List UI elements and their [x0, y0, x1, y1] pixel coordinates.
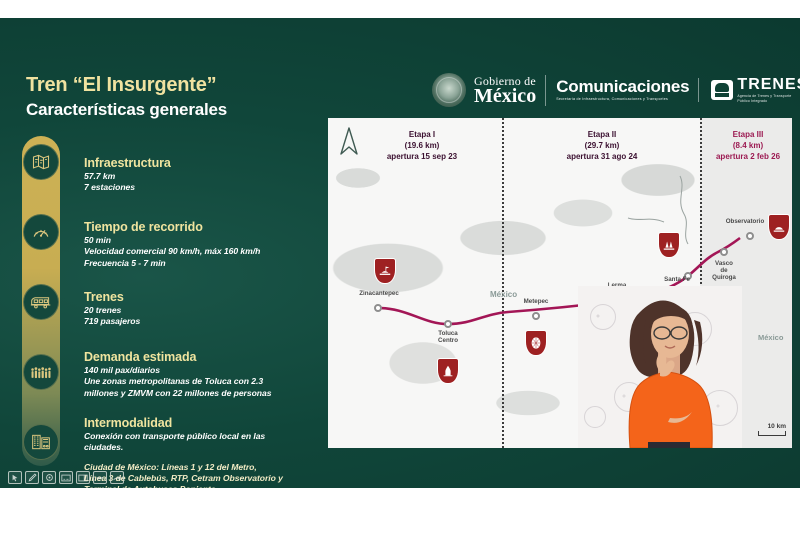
station-label-santa-fe: Santa Fe — [654, 276, 700, 283]
cursor-tool-icon[interactable] — [8, 471, 22, 484]
annotation-toolbar[interactable] — [8, 471, 124, 484]
feature-line: 140 mil pax/diarios — [84, 365, 271, 376]
feature-line: ciudades. — [84, 442, 283, 453]
route-map-icon — [23, 144, 59, 180]
trenes-sub-line-2: Público Integrado — [737, 100, 800, 103]
pen-tool-icon[interactable] — [25, 471, 39, 484]
train-icon — [23, 284, 59, 320]
feature-line: 20 trenes — [84, 305, 140, 316]
gobierno-de-mexico-logo: Gobierno de México — [474, 75, 546, 106]
sign-language-interpreter-video — [578, 286, 742, 448]
station-label-zinacantepec: Zinacantepec — [336, 290, 422, 297]
government-logo-bar: Gobierno de México Comunicaciones Secret… — [432, 68, 800, 112]
feature-line: 57.7 km — [84, 171, 171, 182]
station-dot-observatorio[interactable] — [746, 232, 754, 240]
feature-heading: Trenes — [84, 290, 140, 304]
trenes-sub-line-1: Agencia de Trenes y Transporte — [737, 95, 800, 98]
more-tool-icon[interactable] — [93, 471, 107, 484]
interpreter-figure — [578, 286, 742, 448]
presentation-video-frame: Gobierno de México Comunicaciones Secret… — [0, 18, 800, 488]
station-shield-zinacantepec — [374, 258, 396, 284]
comunicaciones-logo: Comunicaciones Secretaría de Infraestruc… — [554, 78, 699, 102]
feature-heading: Intermodalidad — [84, 416, 283, 430]
trenes-train-icon — [711, 80, 733, 100]
comunicaciones-subtitle: Secretaría de Infraestructura, Comunicac… — [556, 98, 689, 102]
station-dot-vasco-de-quiroga[interactable] — [720, 248, 728, 256]
station-shield-toluca-centro — [437, 358, 459, 384]
layout-tool-icon[interactable] — [76, 471, 90, 484]
feature-heading: Demanda estimada — [84, 350, 271, 364]
station-dot-toluca-centro[interactable] — [444, 320, 452, 328]
intermodal-station-icon — [23, 424, 59, 460]
spotlight-tool-icon[interactable] — [42, 471, 56, 484]
feature-line: 50 min — [84, 235, 260, 246]
feature-extra-line: Terminal de Autobuses Poniente — [84, 484, 283, 488]
scale-bar-label: 10 km — [758, 423, 786, 430]
map-scale-bar: 10 km — [758, 423, 786, 436]
feature-block-demanda-estimada: Demanda estimada 140 mil pax/diarios Une… — [84, 350, 271, 399]
station-shield-santa-fe — [658, 232, 680, 258]
scale-bar-rule — [758, 431, 786, 436]
trenes-wordmark: TRENES Agencia de Trenes y Transporte Pú… — [737, 77, 800, 104]
station-label-toluca-centro: TolucaCentro — [416, 330, 480, 344]
speedometer-icon — [23, 214, 59, 250]
comunicaciones-title: Comunicaciones — [556, 78, 689, 95]
feature-line: Frecuencia 5 - 7 min — [84, 258, 260, 269]
feature-line: Velocidad comercial 90 km/h, máx 160 km/… — [84, 246, 260, 257]
station-shield-metepec — [525, 330, 547, 356]
station-shield-observatorio — [768, 214, 790, 240]
trenes-name-text: TRENES — [737, 77, 800, 93]
exit-tool-icon[interactable] — [110, 471, 124, 484]
feature-heading: Infraestructura — [84, 156, 171, 170]
subtitles-tool-icon[interactable] — [59, 471, 73, 484]
station-dot-metepec[interactable] — [532, 312, 540, 320]
feature-block-tiempo-de-recorrido: Tiempo de recorrido 50 min Velocidad com… — [84, 220, 260, 269]
slide-title-primary: Tren “El Insurgente” — [26, 74, 216, 97]
feature-block-infraestructura: Infraestructura 57.7 km 7 estaciones — [84, 156, 171, 194]
state-label-mexico-1: México — [490, 290, 517, 299]
station-dot-zinacantepec[interactable] — [374, 304, 382, 312]
station-label-metepec: Metepec — [506, 298, 566, 305]
state-label-mexico-2: México — [758, 333, 783, 342]
gob-bottom-text: México — [474, 86, 536, 106]
feature-line: 7 estaciones — [84, 182, 171, 193]
feature-line: millones y ZMVM con 22 millones de perso… — [84, 388, 271, 399]
feature-line: 719 pasajeros — [84, 316, 140, 327]
feature-heading: Tiempo de recorrido — [84, 220, 260, 234]
slide-title-secondary: Características generales — [26, 100, 227, 120]
crowd-people-icon — [23, 354, 59, 390]
feature-line: Conexión con transporte público local en… — [84, 431, 283, 442]
feature-block-trenes: Trenes 20 trenes 719 pasajeros — [84, 290, 140, 328]
trenes-logo: TRENES Agencia de Trenes y Transporte Pú… — [707, 77, 800, 104]
station-label-vasco-de-quiroga: VascodeQuiroga — [702, 260, 746, 281]
mexican-eagle-seal-icon — [432, 73, 466, 107]
feature-line: Une zonas metropolitanas de Toluca con 2… — [84, 376, 271, 387]
